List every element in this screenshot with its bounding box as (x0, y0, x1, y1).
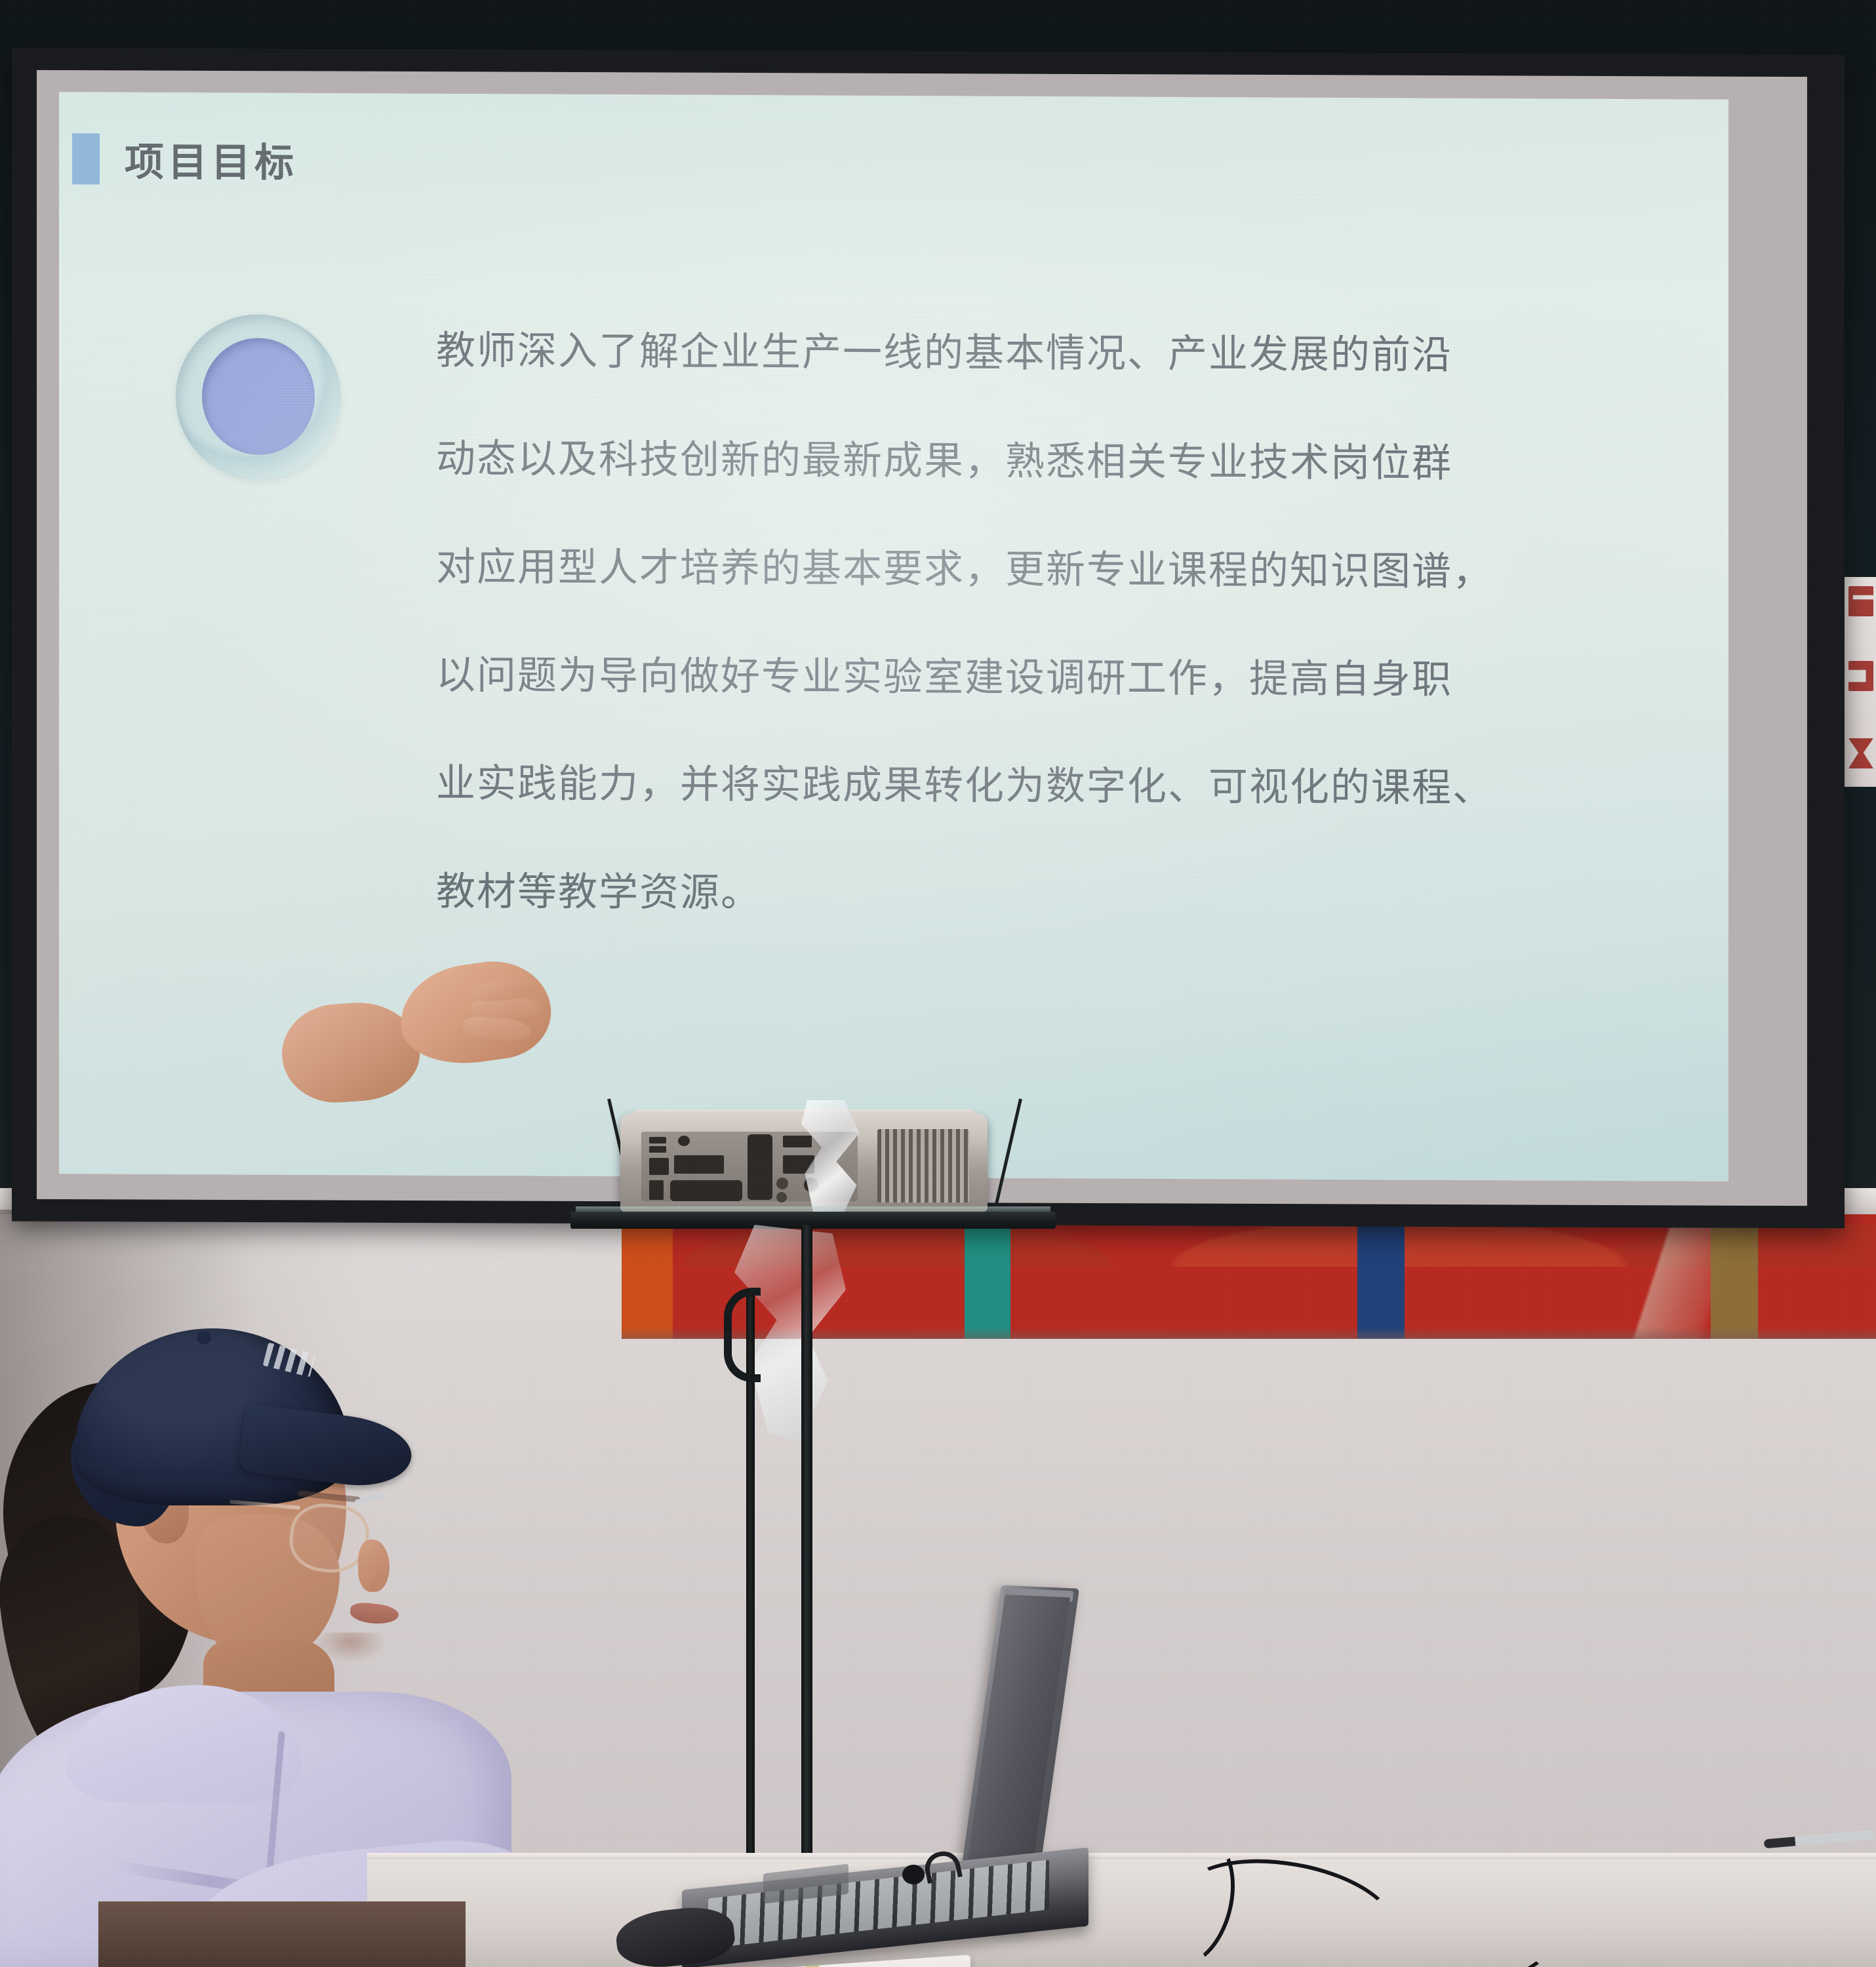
slide-body-line: 业实践能力，并将实践成果转化为数字化、可视化的课程、 (436, 730, 1682, 844)
port-icon (649, 1137, 666, 1143)
mount-brace-right (992, 1098, 1022, 1215)
circle-inner-disc (202, 338, 315, 455)
navy-stripe (1357, 1214, 1405, 1339)
port-icon (649, 1146, 666, 1153)
port-icon (776, 1178, 788, 1189)
projector-assembly (570, 1096, 1056, 1372)
banner-glyph-icon (1848, 586, 1873, 616)
port-icon (783, 1136, 812, 1147)
port-icon (748, 1134, 772, 1200)
slide-body-line: 动态以及科技创新的最新成果，熟悉相关专业技术岗位群 (436, 405, 1682, 519)
slide-body-text: 教师深入了解企业生产一线的基本情况、产业发展的前沿 动态以及科技创新的最新成果，… (436, 297, 1682, 952)
slide-title-row: 项目目标 (72, 130, 298, 188)
circle-badge-icon (176, 314, 341, 480)
slide-body-line: 教材等教学资源。 (436, 838, 1682, 952)
mouth (349, 1601, 400, 1626)
hinge-knob (902, 1865, 925, 1884)
desk-shadow-area (98, 1901, 466, 1967)
slide-body-line: 以问题为导向做好专业实验室建设调研工作，提高自身职 (436, 622, 1682, 736)
banner-glyph-icon (1848, 661, 1873, 691)
title-accent-bar (72, 133, 100, 184)
olive-stripe (1711, 1214, 1758, 1339)
laptop[interactable] (695, 1587, 1193, 1954)
glasses-temple (354, 1492, 385, 1506)
port-icon (649, 1158, 669, 1175)
port-icon (670, 1180, 742, 1201)
projector-body (620, 1113, 988, 1212)
projector-vent-grille (877, 1129, 969, 1202)
mural-diagonal (1509, 1214, 1876, 1339)
banner-glyph-icon (1848, 738, 1873, 768)
slide-body-line: 教师深入了解企业生产一线的基本情况、产业发展的前沿 (436, 297, 1682, 411)
cap-button (197, 1331, 211, 1344)
port-icon (649, 1180, 664, 1200)
slide-body-line: 对应用型人才培养的基本要求，更新专业课程的知识图谱， (436, 513, 1682, 627)
nose (358, 1540, 389, 1592)
port-icon (678, 1136, 690, 1146)
port-icon (776, 1192, 787, 1202)
port-icon (674, 1155, 724, 1174)
mount-shelf (570, 1212, 1056, 1229)
slide-title: 项目目标 (125, 130, 298, 188)
classroom-scene: 项目目标 教师深入了解企业生产一线的基本情况、产业发展的前沿 动态以及科技创新的… (0, 0, 1876, 1967)
